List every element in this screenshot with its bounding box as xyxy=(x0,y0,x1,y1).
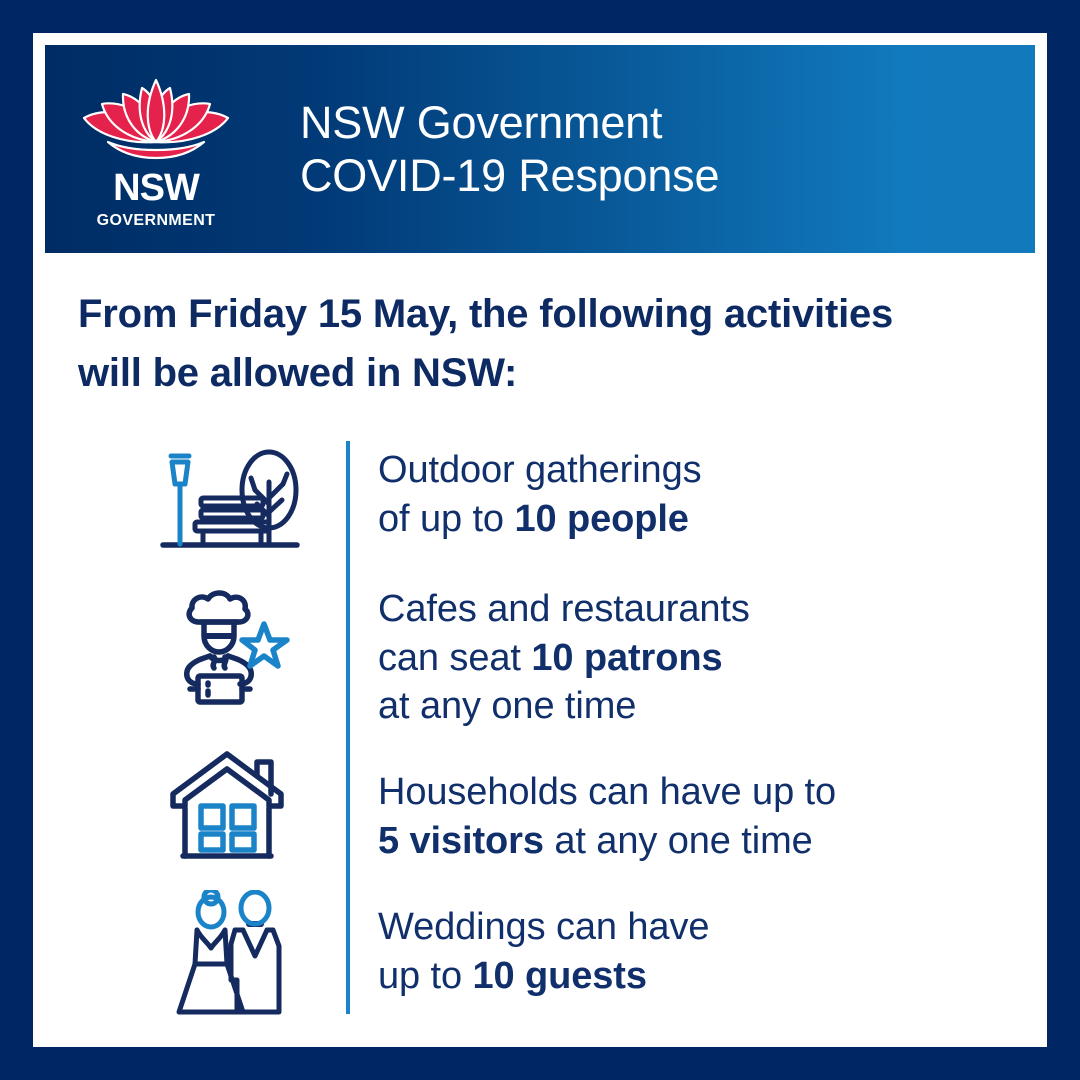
header-title-group: NSW Government COVID-19 Response xyxy=(260,96,1035,202)
wedding-couple-icon xyxy=(171,890,289,1018)
headline: From Friday 15 May, the following activi… xyxy=(78,285,1008,403)
star-icon xyxy=(242,624,287,666)
svg-text:GOVERNMENT: GOVERNMENT xyxy=(96,212,215,228)
activity-1-line-2: of up to 10 people xyxy=(378,495,702,544)
header-title-line-2: COVID-19 Response xyxy=(300,149,1035,202)
government-wordmark: GOVERNMENT xyxy=(80,210,232,228)
activity-1-line-1: Outdoor gatherings xyxy=(378,446,702,495)
activity-icon-4 xyxy=(155,890,305,1018)
activity-4-line-2: up to 10 guests xyxy=(378,952,709,1001)
park-bench-lamppost-tree-icon xyxy=(159,442,301,554)
activity-text-4: Weddings can have up to 10 guests xyxy=(378,903,709,1000)
header-band: NSW GOVERNMENT NSW Government COVID-19 R… xyxy=(45,45,1035,253)
activity-text-1: Outdoor gatherings of up to 10 people xyxy=(378,446,702,543)
activity-2-line-3: at any one time xyxy=(378,682,750,731)
activity-text-2: Cafes and restaurants can seat 10 patron… xyxy=(378,585,750,731)
activity-icon-2 xyxy=(155,588,305,708)
activity-3-line-2: 5 visitors at any one time xyxy=(378,817,836,866)
activity-2-line-2: can seat 10 patrons xyxy=(378,634,750,683)
house-windows-icon xyxy=(167,750,293,864)
activity-4-line-1: Weddings can have xyxy=(378,903,709,952)
activity-2-line-1: Cafes and restaurants xyxy=(378,585,750,634)
poster-frame: NSW GOVERNMENT NSW Government COVID-19 R… xyxy=(0,0,1080,1080)
activity-icon-1 xyxy=(155,442,305,554)
activity-3-line-1: Households can have up to xyxy=(378,768,836,817)
activity-text-3: Households can have up to 5 visitors at … xyxy=(378,768,836,865)
activities-list: Outdoor gatherings of up to 10 people xyxy=(33,428,1047,1028)
nsw-wordmark: NSW xyxy=(80,167,232,207)
poster-card: NSW GOVERNMENT NSW Government COVID-19 R… xyxy=(33,33,1047,1047)
headline-line-2: will be allowed in NSW: xyxy=(78,344,1008,403)
chef-star-icon xyxy=(168,588,292,708)
svg-text:NSW: NSW xyxy=(113,167,200,207)
header-title-line-1: NSW Government xyxy=(300,96,1035,149)
vertical-divider xyxy=(346,441,350,1014)
nsw-government-logo: NSW GOVERNMENT xyxy=(45,70,260,228)
waratah-icon xyxy=(78,70,234,166)
activity-icon-3 xyxy=(155,750,305,864)
headline-line-1: From Friday 15 May, the following activi… xyxy=(78,285,1008,344)
